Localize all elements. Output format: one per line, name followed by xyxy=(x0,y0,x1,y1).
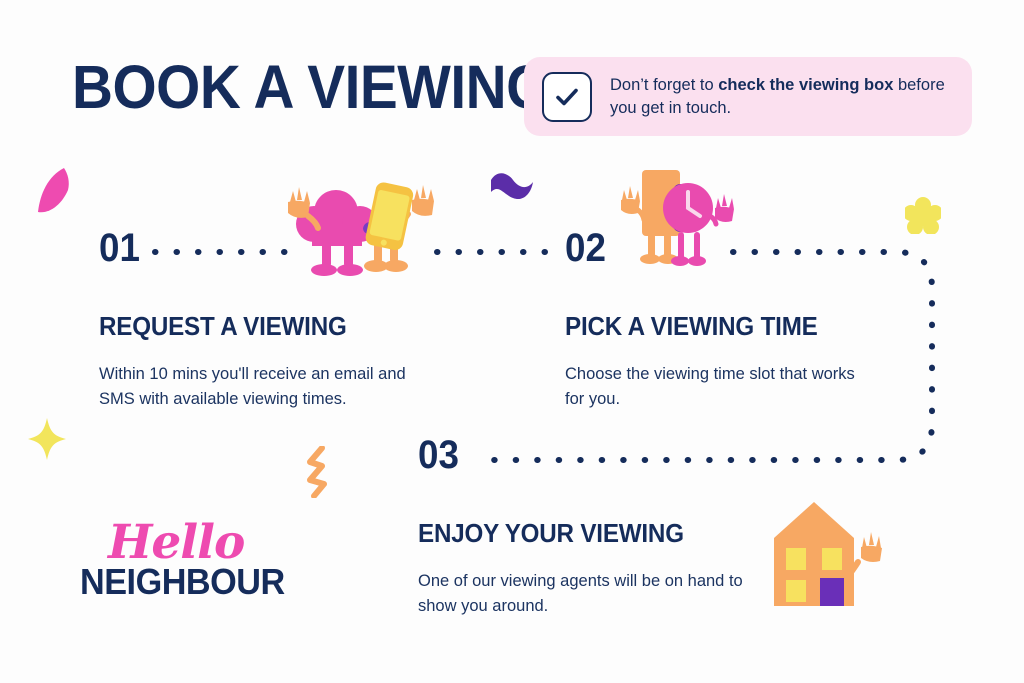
viewing-box-callout: Don’t forget to check the viewing box be… xyxy=(524,57,972,136)
house-window-icon xyxy=(786,580,806,602)
waving-house-illustration xyxy=(770,500,888,612)
purple-arrow-decoration xyxy=(487,168,535,206)
logo-wordmark-neighbour: NEIGHBOUR xyxy=(80,563,285,600)
logo-script-hello: Hello xyxy=(108,519,296,567)
step-02-heading: PICK A VIEWING TIME xyxy=(565,312,853,340)
step-02-body: Choose the viewing time slot that works … xyxy=(565,362,875,412)
house-door-icon xyxy=(820,578,844,606)
step-03: 03 ENJOY YOUR VIEWING One of our viewing… xyxy=(418,435,758,619)
pink-swoosh-decoration xyxy=(34,166,76,218)
yellow-flower-decoration xyxy=(905,196,941,234)
step-03-body: One of our viewing agents will be on han… xyxy=(418,569,758,619)
step-03-heading: ENJOY YOUR VIEWING xyxy=(418,519,734,547)
callout-text-lead: Don’t forget to xyxy=(610,76,718,94)
yellow-star-decoration xyxy=(28,418,66,460)
step-01-heading: REQUEST A VIEWING xyxy=(99,312,397,340)
callout-text-bold: check the viewing box xyxy=(718,76,893,94)
step-03-number: 03 xyxy=(418,435,731,475)
page-title: BOOK A VIEWING xyxy=(72,56,550,118)
step-02: 02 PICK A VIEWING TIME Choose the viewin… xyxy=(565,228,875,412)
orange-lightning-decoration xyxy=(304,446,334,498)
infographic-canvas: BOOK A VIEWING Don’t forget to check the… xyxy=(0,0,1024,683)
house-window-icon xyxy=(786,548,806,570)
brand-logo: Hello NEIGHBOUR xyxy=(80,519,296,600)
checkbox-checked-icon[interactable] xyxy=(542,72,592,122)
step-02-number: 02 xyxy=(565,228,850,268)
step-01-body: Within 10 mins you'll receive an email a… xyxy=(99,362,419,412)
callout-text: Don’t forget to check the viewing box be… xyxy=(610,74,954,120)
step-01: 01 REQUEST A VIEWING Within 10 mins you'… xyxy=(99,228,419,412)
house-window-icon xyxy=(822,548,842,570)
step-01-number: 01 xyxy=(99,228,393,268)
